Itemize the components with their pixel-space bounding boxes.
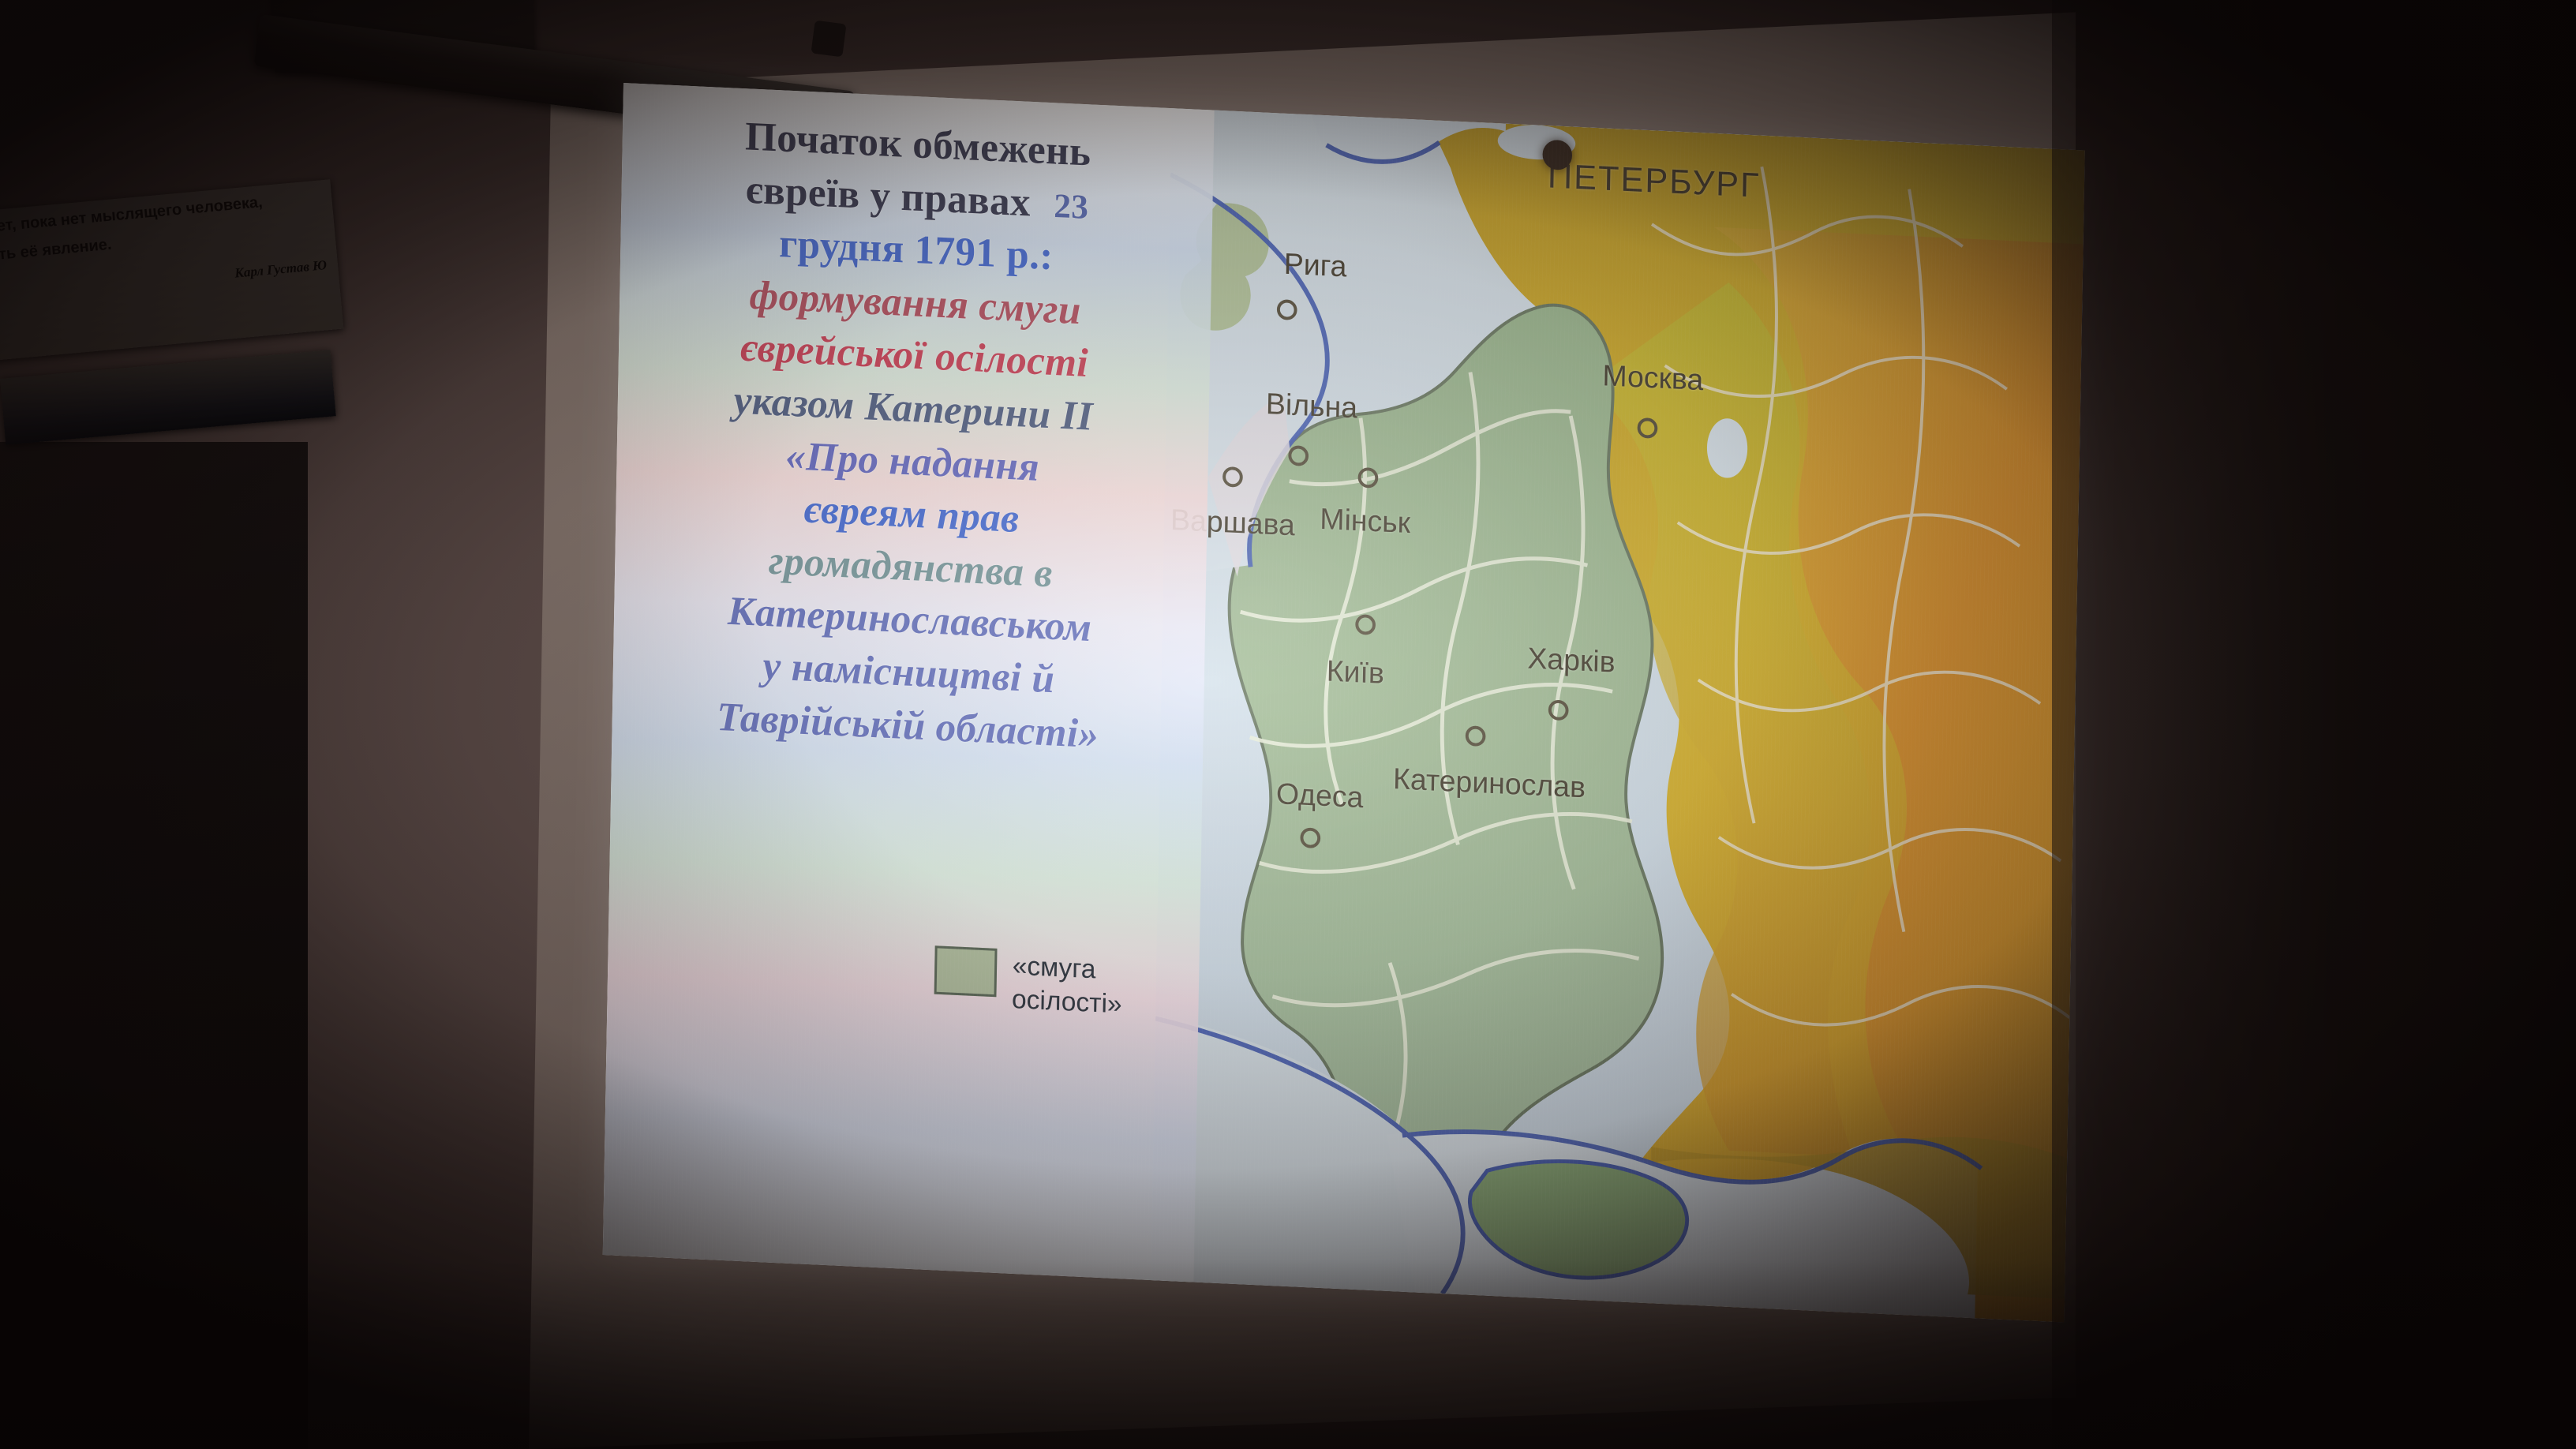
city-label-kyiv: Київ [1326, 655, 1384, 691]
city-label-kharkiv: Харків [1527, 642, 1616, 680]
slide-text-lines: Початок обмежень євреїв у правах23 грудн… [612, 83, 1214, 766]
projected-slide: ПЕТЕРБУРГ Рига Москва Вільна Мінськ Варш… [603, 83, 2085, 1323]
map-legend-swatch [934, 945, 998, 997]
city-label-odesa: Одеса [1276, 777, 1364, 815]
map-legend: «смуга осілості» [934, 945, 1123, 1020]
map-legend-label-line2: осілості» [1012, 983, 1122, 1021]
map-svg [1151, 108, 2085, 1322]
slide-text-panel: Початок обмежень євреїв у правах23 грудн… [603, 83, 1215, 1282]
city-label-minsk: Мінськ [1320, 503, 1411, 541]
map-legend-label-line1: «смуга [1012, 949, 1122, 988]
floor-shadow [0, 1260, 2576, 1449]
wall-right-shadow [2052, 0, 2576, 1449]
city-label-riga: Рига [1283, 248, 1346, 284]
city-label-moskva: Москва [1602, 360, 1704, 398]
city-label-vilna: Вільна [1266, 388, 1358, 425]
slide-text-inline-number: 23 [1054, 186, 1089, 227]
map-legend-label: «смуга осілості» [1012, 949, 1123, 1021]
slide-text-line-2: євреїв у правах [745, 167, 1031, 225]
pale-of-settlement-map: ПЕТЕРБУРГ Рига Москва Вільна Мінськ Варш… [1151, 108, 2085, 1322]
